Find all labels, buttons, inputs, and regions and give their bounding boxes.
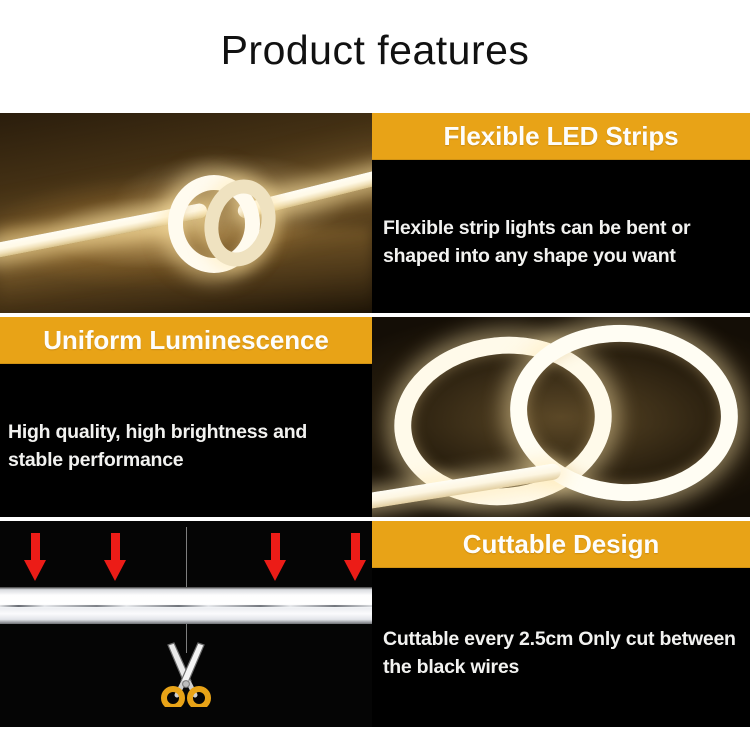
arrow-down-icon — [264, 533, 286, 581]
feature-text-cuttable-design: Cuttable Design Cuttable every 2.5cm Onl… — [372, 521, 750, 727]
feature-title-bar: Cuttable Design — [372, 521, 750, 568]
arrow-shaft — [351, 533, 360, 563]
arrow-head — [344, 560, 366, 581]
arrow-head — [104, 560, 126, 581]
feature-text-uniform-luminescence: Uniform Luminescence High quality, high … — [0, 317, 372, 517]
feature-body-text: High quality, high brightness and stable… — [0, 419, 372, 474]
scissors-icon — [155, 641, 217, 707]
arrow-down-icon — [104, 533, 126, 581]
led-strip-cut-marks — [0, 605, 372, 607]
feature-photo-rings — [372, 317, 750, 517]
feature-body-area: Flexible strip lights can be bent or sha… — [372, 160, 750, 313]
page-title: Product features — [0, 28, 750, 73]
arrow-shaft — [31, 533, 40, 563]
arrow-down-icon — [24, 533, 46, 581]
arrow-shaft — [271, 533, 280, 563]
feature-title-label: Uniform Luminescence — [43, 325, 329, 356]
feature-body-area: High quality, high brightness and stable… — [0, 364, 372, 517]
feature-row-cuttable-design: Cuttable Design Cuttable every 2.5cm Onl… — [0, 521, 750, 727]
arrow-shaft — [111, 533, 120, 563]
arrow-head — [24, 560, 46, 581]
feature-row-uniform-luminescence: Uniform Luminescence High quality, high … — [0, 317, 750, 517]
arrow-head — [264, 560, 286, 581]
led-strip-cuttable — [0, 587, 372, 624]
rings-photo-background — [372, 317, 750, 517]
feature-title-bar: Uniform Luminescence — [0, 317, 372, 364]
feature-photo-knot — [0, 113, 372, 313]
feature-title-label: Flexible LED Strips — [443, 121, 678, 152]
cuttable-diagram — [0, 521, 372, 727]
feature-row-flexible-led-strips: Flexible LED Strips Flexible strip light… — [0, 113, 750, 313]
feature-title-label: Cuttable Design — [463, 529, 659, 560]
product-features-page: Product features Flexible LED Strips Fle… — [0, 0, 750, 750]
feature-body-area: Cuttable every 2.5cm Only cut between th… — [372, 568, 750, 727]
feature-text-flexible-led-strips: Flexible LED Strips Flexible strip light… — [372, 113, 750, 313]
arrow-down-icon — [344, 533, 366, 581]
feature-photo-cuttable — [0, 521, 372, 727]
feature-body-text: Flexible strip lights can be bent or sha… — [372, 215, 750, 270]
feature-body-text: Cuttable every 2.5cm Only cut between th… — [372, 626, 750, 681]
knot-photo-background — [0, 113, 372, 313]
feature-title-bar: Flexible LED Strips — [372, 113, 750, 160]
